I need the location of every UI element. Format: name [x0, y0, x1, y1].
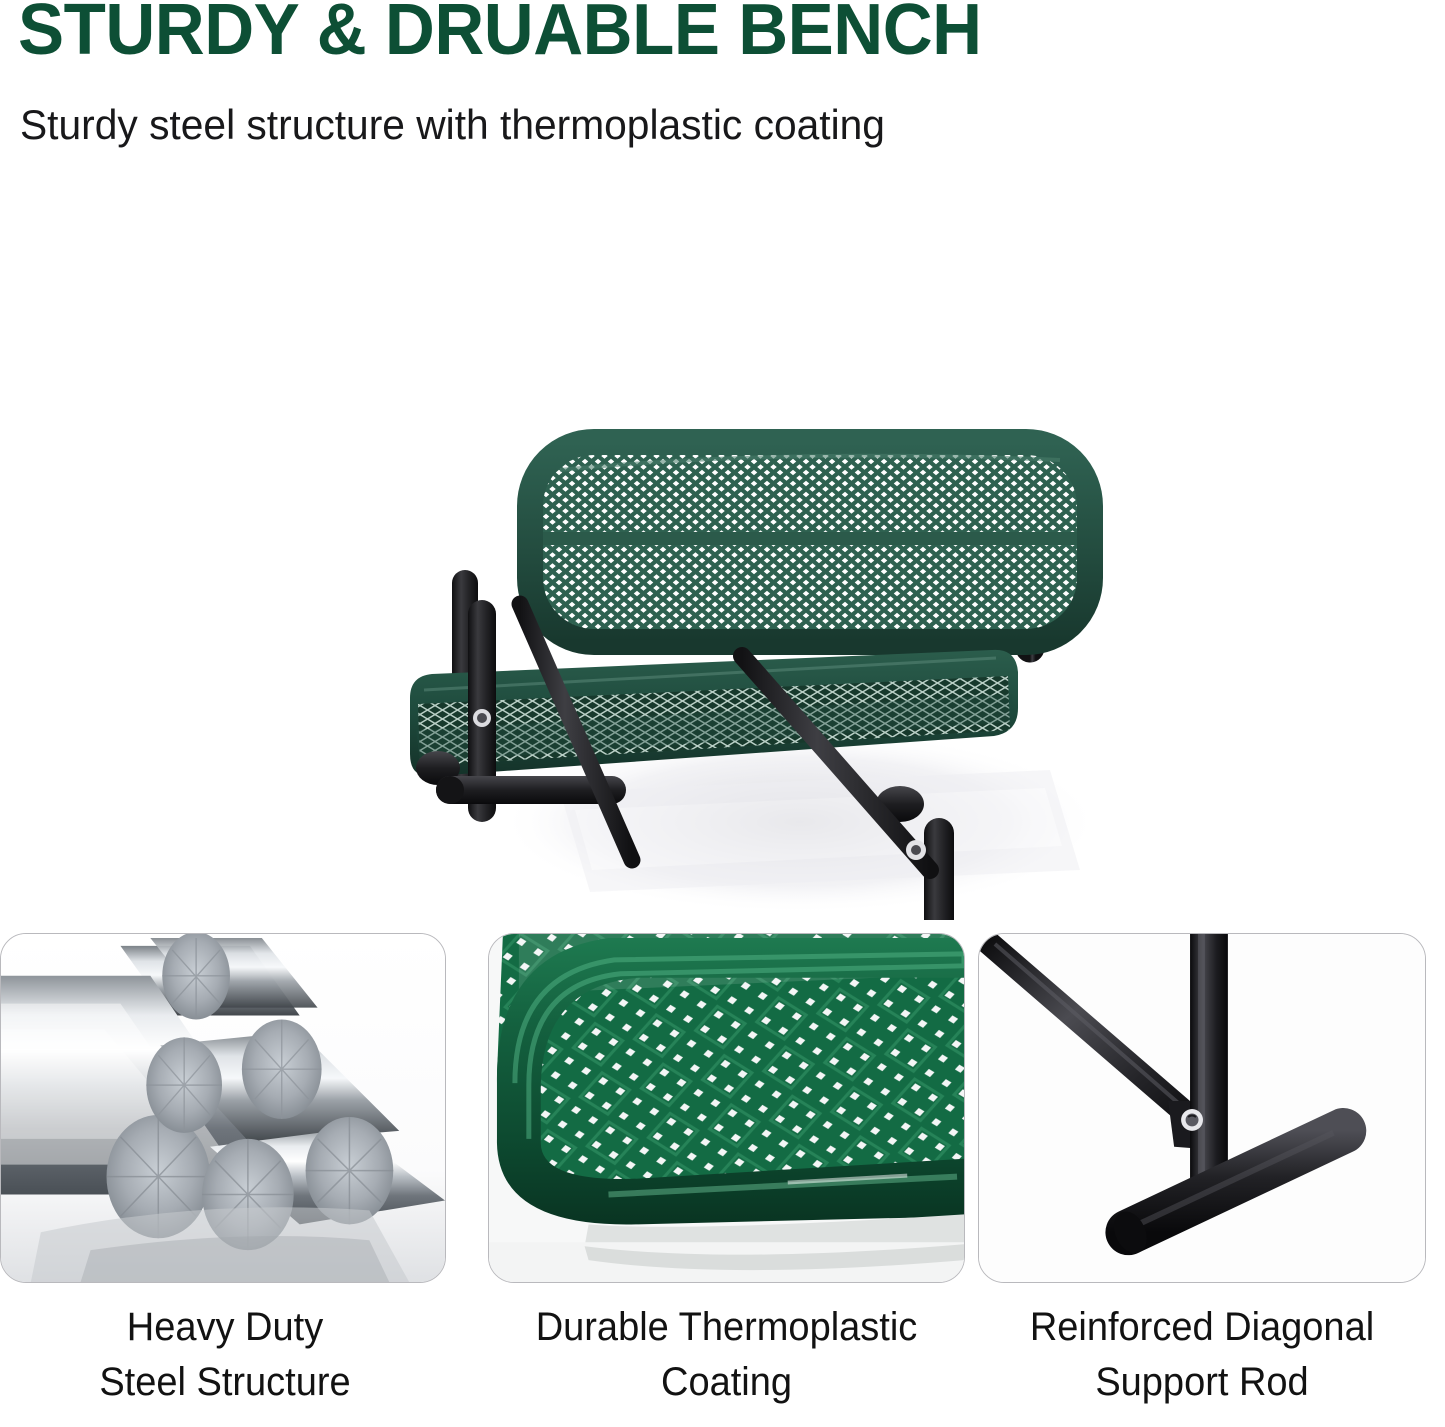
backrest-cross-rail	[534, 532, 1086, 545]
feature-panel-thermoplastic-coating	[488, 933, 965, 1283]
caption-heavy-duty-steel: Heavy Duty Steel Structure	[13, 1300, 437, 1410]
feature-panel-diagonal-support-rod	[978, 933, 1426, 1283]
feature-panels	[0, 933, 1445, 1285]
hero-product-image	[0, 170, 1445, 920]
caption-line-1: Durable Thermoplastic	[500, 1300, 953, 1355]
caption-line-1: Reinforced Diagonal	[989, 1300, 1415, 1355]
bench-backrest	[530, 442, 1090, 642]
page-title: STURDY & DRUABLE BENCH	[18, 0, 982, 66]
page-subtitle: Sturdy steel structure with thermoplasti…	[20, 104, 885, 146]
bolt-icon	[1181, 1109, 1203, 1131]
caption-line-1: Heavy Duty	[13, 1300, 437, 1355]
vertical-leg	[1190, 934, 1228, 1195]
feature-panel-heavy-duty-steel	[0, 933, 446, 1283]
feature-captions: Heavy Duty Steel Structure Durable Therm…	[0, 1300, 1445, 1427]
steel-rods-bundle-photo	[1, 934, 445, 1282]
bench-illustration	[0, 170, 1445, 920]
black-diagonal-support-rod-closeup-photo	[979, 934, 1425, 1282]
caption-thermoplastic-coating: Durable Thermoplastic Coating	[500, 1300, 953, 1410]
caption-line-2: Steel Structure	[13, 1355, 437, 1410]
caption-diagonal-support-rod: Reinforced Diagonal Support Rod	[989, 1300, 1415, 1410]
caption-line-2: Support Rod	[989, 1355, 1415, 1410]
caption-line-2: Coating	[500, 1355, 953, 1410]
green-mesh-corner-closeup-photo	[489, 934, 964, 1282]
